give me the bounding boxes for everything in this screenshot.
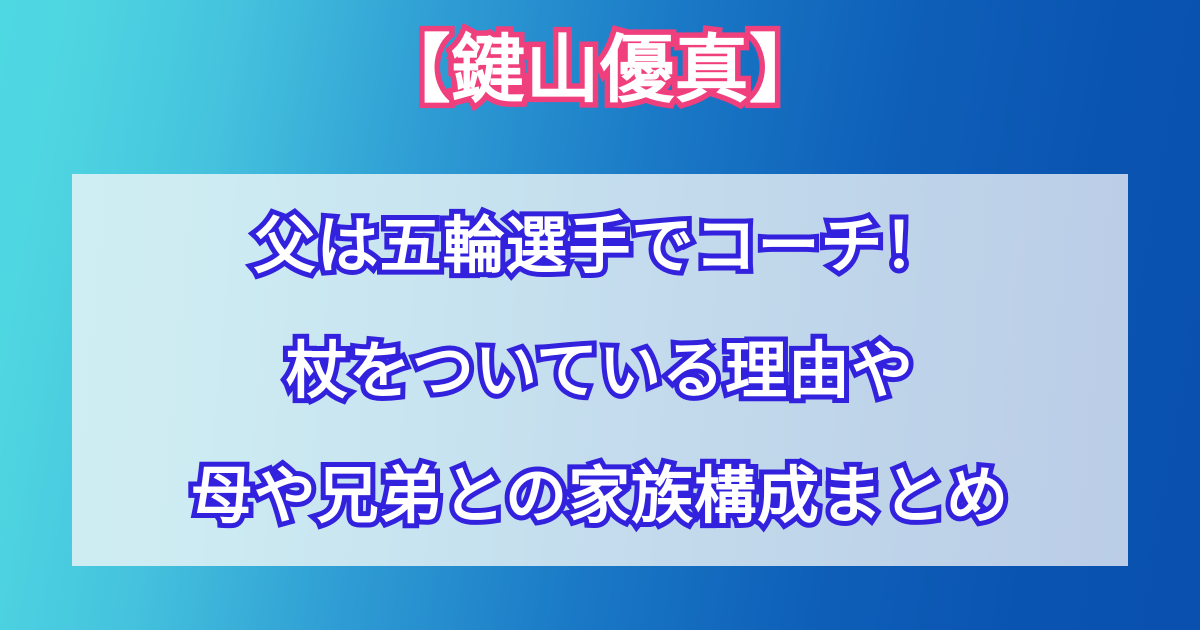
thumbnail-canvas: 【鍵山優真】 父は五輪選手でコーチ！ 杖をついている理由や 母や兄弟との家族構成… bbox=[0, 0, 1200, 630]
content-panel: 父は五輪選手でコーチ！ 杖をついている理由や 母や兄弟との家族構成まとめ bbox=[72, 174, 1128, 566]
page-title: 【鍵山優真】 bbox=[0, 22, 1200, 118]
panel-text-line-1: 父は五輪選手でコーチ！ bbox=[72, 183, 1128, 308]
panel-text-line-2: 杖をついている理由や bbox=[72, 308, 1128, 433]
panel-text-line-3: 母や兄弟との家族構成まとめ bbox=[72, 433, 1128, 558]
